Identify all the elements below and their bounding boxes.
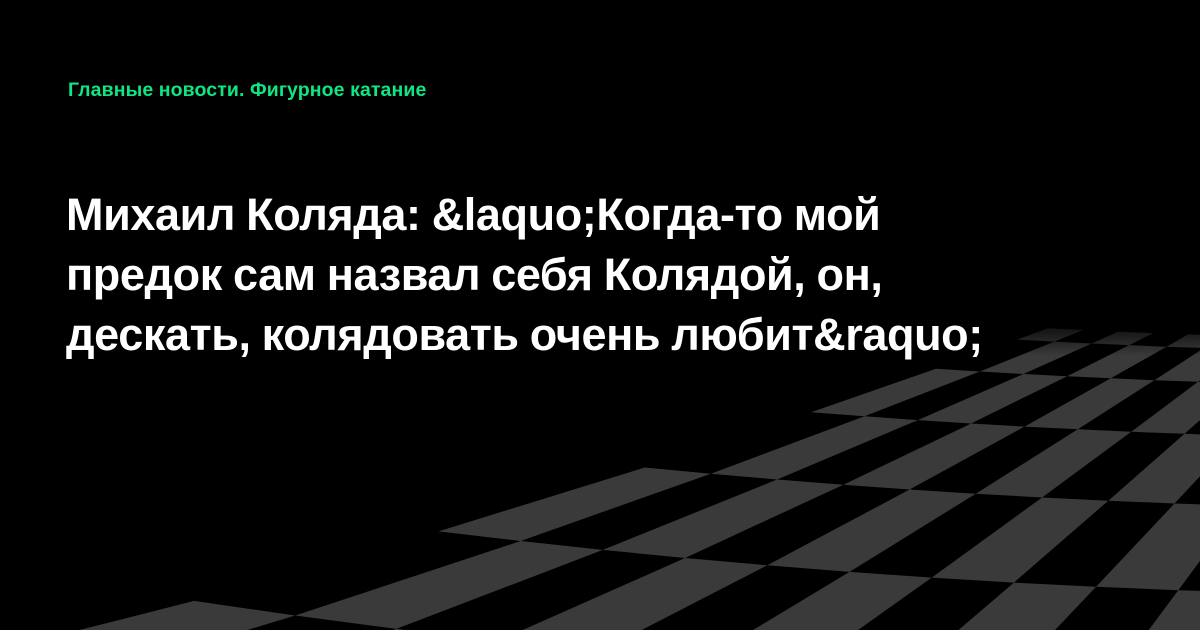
- checkerboard-tile: [1154, 348, 1200, 382]
- checkerboard-tile: [1096, 504, 1200, 591]
- checkerboard-tile: [497, 558, 767, 630]
- checkerboard-tile: [711, 416, 918, 479]
- checkerboard-tile: [811, 369, 980, 417]
- checkerboard-tile: [1104, 590, 1200, 630]
- checkerboard-tile: [902, 583, 1096, 630]
- checkerboard-tile: [1108, 434, 1200, 504]
- page-title-line: дескать, колядовать очень любит&raquo;: [66, 305, 1136, 365]
- category-kicker: Главные новости. Фигурное катание: [68, 79, 426, 102]
- page-title-line: предок сам назвал себя Колядой, он,: [66, 245, 1136, 305]
- page-title-line: Михаил Коляда: &laquo;Когда-то мой: [66, 185, 1136, 245]
- checkerboard-tile: [767, 490, 976, 572]
- checkerboard-tile: [843, 424, 1024, 490]
- checkerboard-tile: [1131, 382, 1200, 434]
- checkerboard-tile: [603, 480, 844, 559]
- checkerboard-tile: [976, 429, 1131, 497]
- checkerboard-tile: [295, 541, 603, 629]
- checkerboard-tile: [1025, 378, 1155, 429]
- checkerboard-tile: [439, 468, 711, 542]
- checkerboard-tile: [700, 572, 932, 630]
- share-card: Главные новости. Фигурное катание Михаил…: [0, 0, 1200, 630]
- page-title: Михаил Коляда: &laquo;Когда-то мойпредок…: [66, 185, 1136, 365]
- checkerboard-tile: [918, 374, 1067, 424]
- checkerboard-tile: [0, 601, 295, 630]
- checkerboard-tile: [1167, 334, 1200, 348]
- checkerboard-tile: [932, 498, 1109, 583]
- checkerboard-tiles: [0, 328, 1200, 630]
